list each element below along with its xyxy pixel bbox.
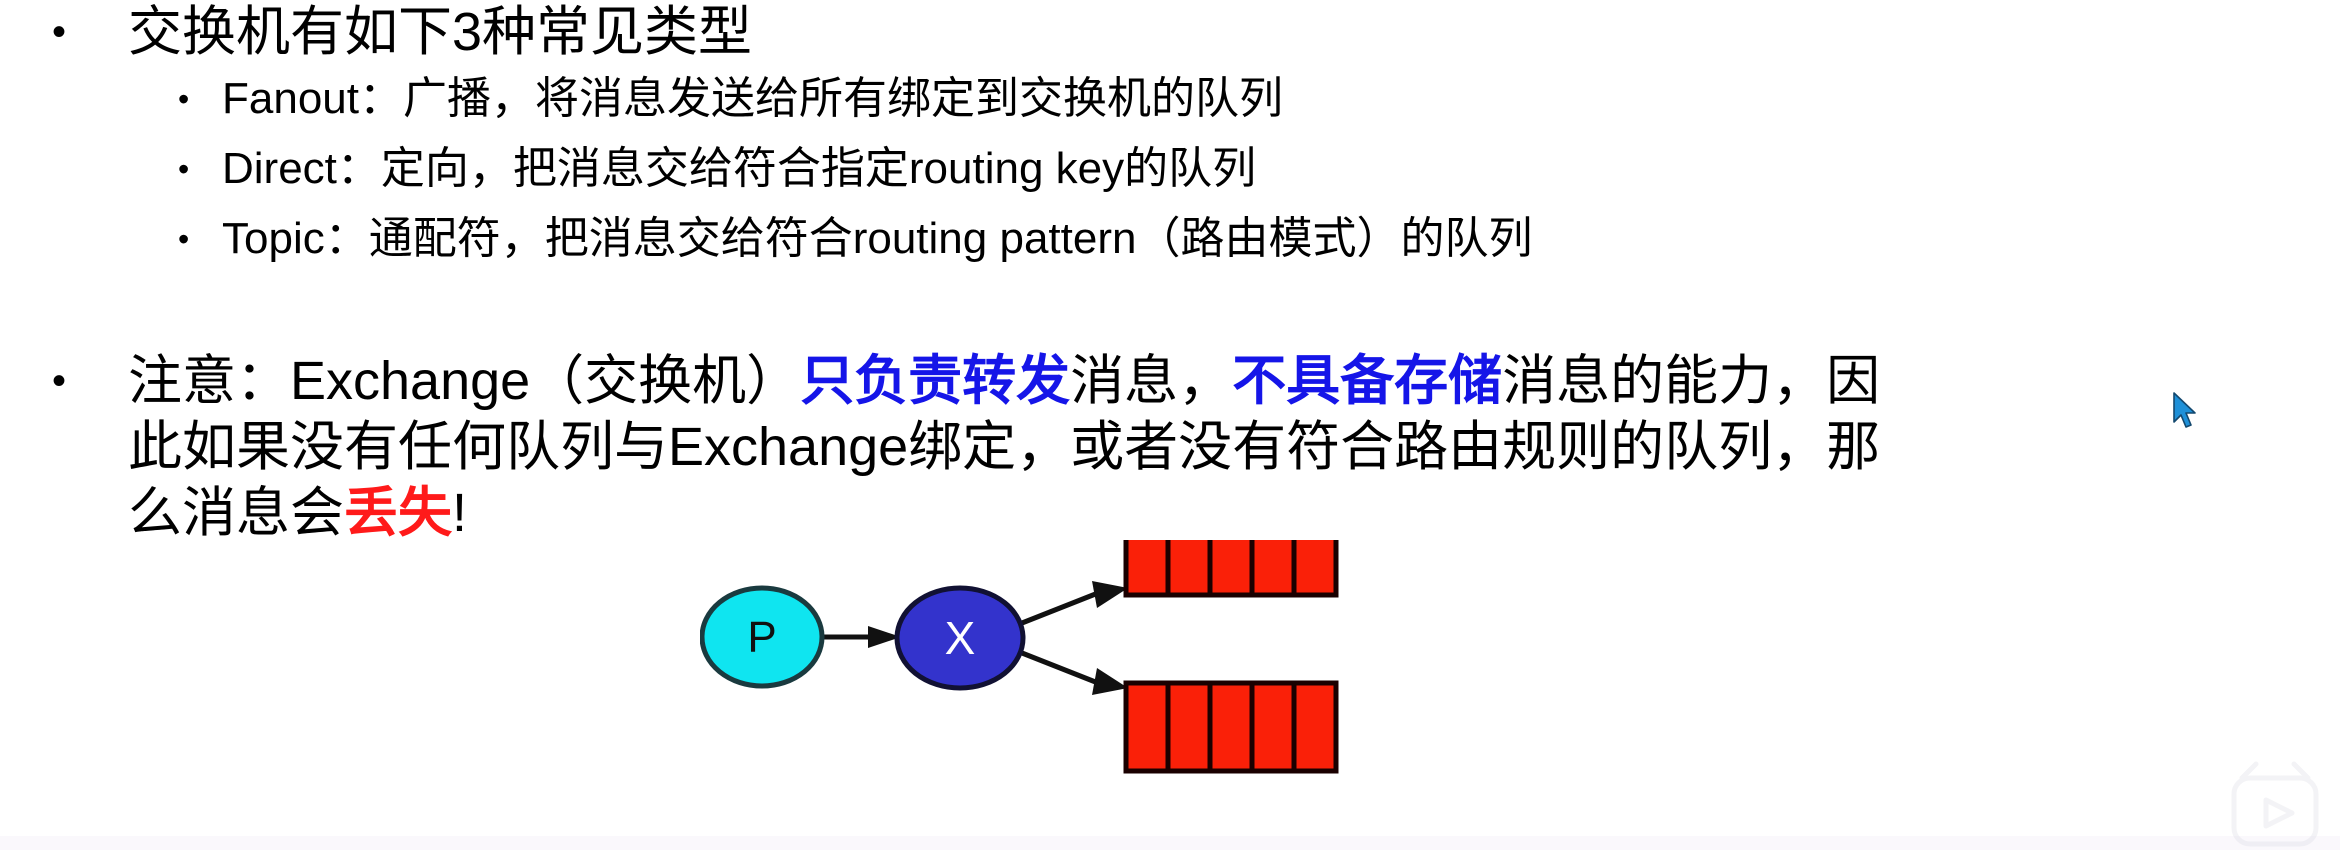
note-run: 消息的能力，因 <box>1502 351 1880 411</box>
arrow-producer-to-exchange <box>822 626 901 648</box>
exchange-node[interactable]: X <box>897 588 1023 688</box>
note-run: ! <box>452 483 467 543</box>
note-run-emphasis-blue: 不具备存储 <box>1232 351 1502 411</box>
note-paragraph: • 注意：Exchange（交换机）只负责转发消息，不具备存储消息的能力，因 此… <box>0 348 2340 546</box>
bullet-item-level2-fanout: • Fanout：广播，将消息发送给所有绑定到交换机的队列 <box>0 64 2340 134</box>
bullet-item-level2-topic: • Topic：通配符，把消息交给符合routing pattern（路由模式）… <box>0 204 2340 274</box>
rabbitmq-exchange-diagram: P X <box>700 540 1340 850</box>
queue-bottom[interactable] <box>1126 683 1336 771</box>
player-watermark-icon <box>2212 756 2332 848</box>
bullet-text: Fanout：广播，将消息发送给所有绑定到交换机的队列 <box>222 64 1283 134</box>
arrow-exchange-to-queue-top <box>1022 581 1128 623</box>
producer-node[interactable]: P <box>702 588 822 686</box>
bullet-marker-icon: • <box>178 204 189 274</box>
bullet-marker-icon: • <box>178 134 189 204</box>
bullet-text: 交换机有如下3种常见类型 <box>128 0 752 64</box>
bullet-text: Direct：定向，把消息交给符合指定routing key的队列 <box>222 134 1256 204</box>
note-run-emphasis-red: 丢失 <box>344 483 452 543</box>
note-line-3: 么消息会丢失! <box>128 480 2228 546</box>
note-line-2: 此如果没有任何队列与Exchange绑定，或者没有符合路由规则的队列，那 <box>128 414 2228 480</box>
note-run: 注意：Exchange（交换机） <box>128 351 800 411</box>
note-run-emphasis-blue: 只负责转发 <box>800 351 1070 411</box>
queue-top[interactable] <box>1126 540 1336 595</box>
bullet-marker-icon: • <box>52 348 66 414</box>
bullet-item-level1-0: • 交换机有如下3种常见类型 <box>0 0 2340 64</box>
bullet-item-level2-direct: • Direct：定向，把消息交给符合指定routing key的队列 <box>0 134 2340 204</box>
producer-label: P <box>747 613 776 662</box>
slide-canvas: • 交换机有如下3种常见类型 • Fanout：广播，将消息发送给所有绑定到交换… <box>0 0 2340 850</box>
bullet-marker-icon: • <box>52 0 66 64</box>
exchange-label: X <box>945 612 976 664</box>
note-line-1: 注意：Exchange（交换机）只负责转发消息，不具备存储消息的能力，因 <box>128 348 2228 414</box>
bullet-text: Topic：通配符，把消息交给符合routing pattern（路由模式）的队… <box>222 204 1532 274</box>
bottom-edge-band <box>0 836 2340 850</box>
arrow-exchange-to-queue-bottom <box>1022 653 1128 695</box>
bullet-marker-icon: • <box>178 64 189 134</box>
note-run: 么消息会 <box>128 483 344 543</box>
note-body: 注意：Exchange（交换机）只负责转发消息，不具备存储消息的能力，因 此如果… <box>128 348 2228 546</box>
note-run: 消息， <box>1070 351 1232 411</box>
note-run: 此如果没有任何队列与Exchange绑定，或者没有符合路由规则的队列，那 <box>128 417 1880 477</box>
